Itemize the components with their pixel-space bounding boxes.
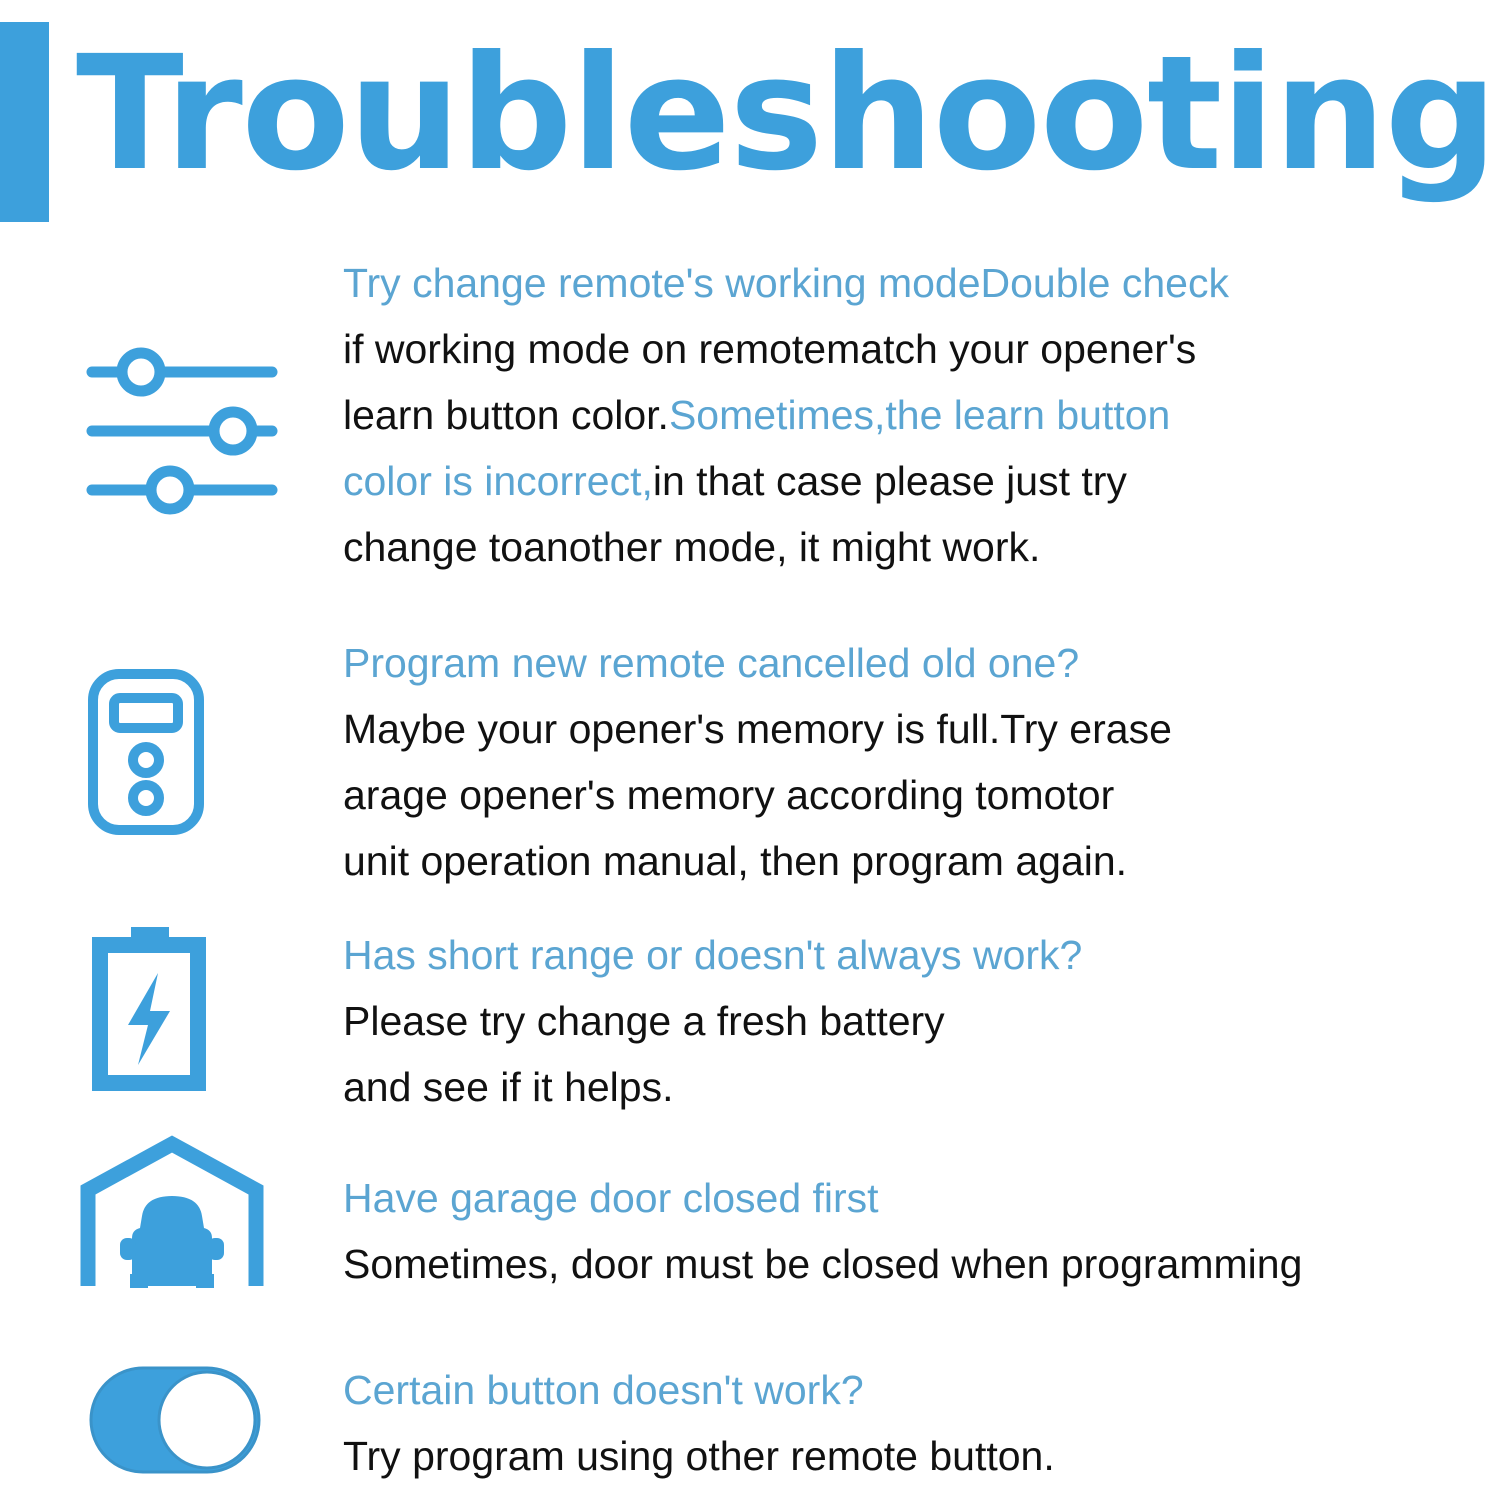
section-4-text: Have garage door closed first Sometimes,… bbox=[343, 1165, 1500, 1297]
section-2-body: Maybe your opener's memory is full.Try e… bbox=[343, 696, 1463, 894]
section-4-headline: Have garage door closed first bbox=[343, 1165, 1500, 1231]
body-span: and see if it helps. bbox=[343, 1064, 673, 1110]
section-5-text: Certain button doesn't work? Try program… bbox=[343, 1357, 1463, 1489]
body-span-highlight: Sometimes,the learn button bbox=[669, 392, 1170, 438]
body-span-highlight: color is incorrect, bbox=[343, 458, 653, 504]
body-span: Try program using other remote button. bbox=[343, 1433, 1055, 1479]
section-3-text: Has short range or doesn't always work? … bbox=[343, 922, 1463, 1120]
sliders-icon bbox=[86, 356, 278, 506]
body-span: unit operation manual, then program agai… bbox=[343, 838, 1127, 884]
section-5-headline: Certain button doesn't work? bbox=[343, 1357, 1463, 1423]
garage-car-icon-glyph bbox=[80, 1138, 264, 1290]
sliders-icon-glyph bbox=[86, 356, 278, 506]
body-span: arage opener's memory according tomotor bbox=[343, 772, 1114, 818]
body-line: if working mode on remotematch your open… bbox=[343, 316, 1463, 382]
body-line: learn button color.Sometimes,the learn b… bbox=[343, 382, 1463, 448]
section-4-body: Sometimes, door must be closed when prog… bbox=[343, 1231, 1500, 1297]
body-line: change toanother mode, it might work. bbox=[343, 514, 1463, 580]
body-span: Please try change a fresh battery bbox=[343, 998, 945, 1044]
body-line: Maybe your opener's memory is full.Try e… bbox=[343, 696, 1463, 762]
section-2-text: Program new remote cancelled old one? Ma… bbox=[343, 630, 1463, 894]
section-1-body: if working mode on remotematch your open… bbox=[343, 316, 1463, 580]
body-line: Try program using other remote button. bbox=[343, 1423, 1463, 1489]
battery-charge-icon-glyph bbox=[90, 925, 208, 1085]
remote-control-icon-glyph bbox=[86, 668, 206, 836]
body-span: in that case please just try bbox=[653, 458, 1127, 504]
body-line: Please try change a fresh battery bbox=[343, 988, 1463, 1054]
body-span: if working mode on remotematch your open… bbox=[343, 326, 1196, 372]
section-5-body: Try program using other remote button. bbox=[343, 1423, 1463, 1489]
page-title: Troubleshooting bbox=[76, 14, 1500, 214]
body-line: Sometimes, door must be closed when prog… bbox=[343, 1231, 1500, 1297]
battery-charge-icon bbox=[90, 925, 208, 1085]
section-1-text: Try change remote's working modeDouble c… bbox=[343, 250, 1463, 580]
section-2-headline: Program new remote cancelled old one? bbox=[343, 630, 1463, 696]
body-line: unit operation manual, then program agai… bbox=[343, 828, 1463, 894]
body-line: arage opener's memory according tomotor bbox=[343, 762, 1463, 828]
garage-car-icon bbox=[80, 1138, 264, 1290]
section-1-headline: Try change remote's working modeDouble c… bbox=[343, 250, 1463, 316]
body-span: Sometimes, door must be closed when prog… bbox=[343, 1241, 1302, 1287]
body-line: color is incorrect,in that case please j… bbox=[343, 448, 1463, 514]
section-3-headline: Has short range or doesn't always work? bbox=[343, 922, 1463, 988]
toggle-switch-icon[interactable] bbox=[88, 1365, 262, 1475]
body-span: change toanother mode, it might work. bbox=[343, 524, 1040, 570]
header-accent-bar bbox=[0, 22, 49, 222]
page-header: Troubleshooting bbox=[0, 22, 1500, 222]
section-3-body: Please try change a fresh battery and se… bbox=[343, 988, 1463, 1120]
body-span: learn button color. bbox=[343, 392, 669, 438]
body-span: Maybe your opener's memory is full.Try e… bbox=[343, 706, 1172, 752]
remote-control-icon bbox=[86, 668, 206, 836]
toggle-switch-icon-glyph bbox=[88, 1365, 262, 1475]
troubleshooting-page: Troubleshooting Try change remote's work… bbox=[0, 0, 1500, 1500]
body-line: and see if it helps. bbox=[343, 1054, 1463, 1120]
